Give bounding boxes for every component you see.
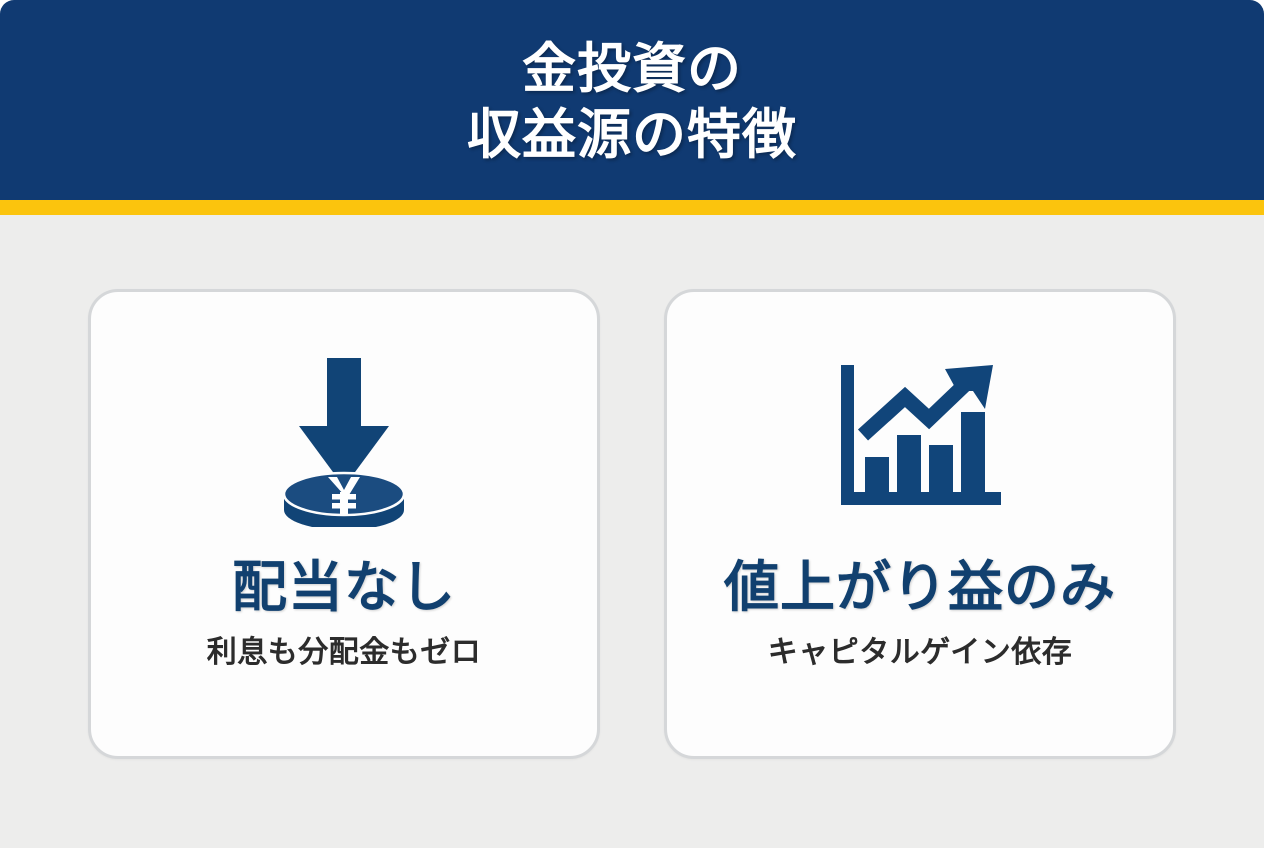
card-no-dividend[interactable]: 配当なし 利息も分配金もゼロ [88,289,600,759]
card-title: 値上がり益のみ [724,556,1116,618]
accent-bar [0,200,1264,215]
growth-bar-chart-icon [833,334,1008,544]
coin-drop-icon [269,334,419,544]
card-grid: 配当なし 利息も分配金もゼロ [88,289,1176,759]
header-title-line-2: 収益源の特徴 [467,102,797,168]
card-subtitle: 利息も分配金もゼロ [207,634,482,672]
card-subtitle: キャピタルゲイン依存 [768,634,1072,672]
yen-coin-stack-icon [284,473,404,527]
card-title: 配当なし [232,556,456,618]
header-banner: 金投資の 収益源の特徴 [0,0,1264,200]
card-capital-gain[interactable]: 値上がり益のみ キャピタルゲイン依存 [664,289,1176,759]
content-area: 配当なし 利息も分配金もゼロ [0,215,1264,848]
infographic-canvas: 金投資の 収益源の特徴 [0,0,1264,848]
down-arrow-icon [299,358,389,487]
header-title-line-1: 金投資の [522,36,742,102]
